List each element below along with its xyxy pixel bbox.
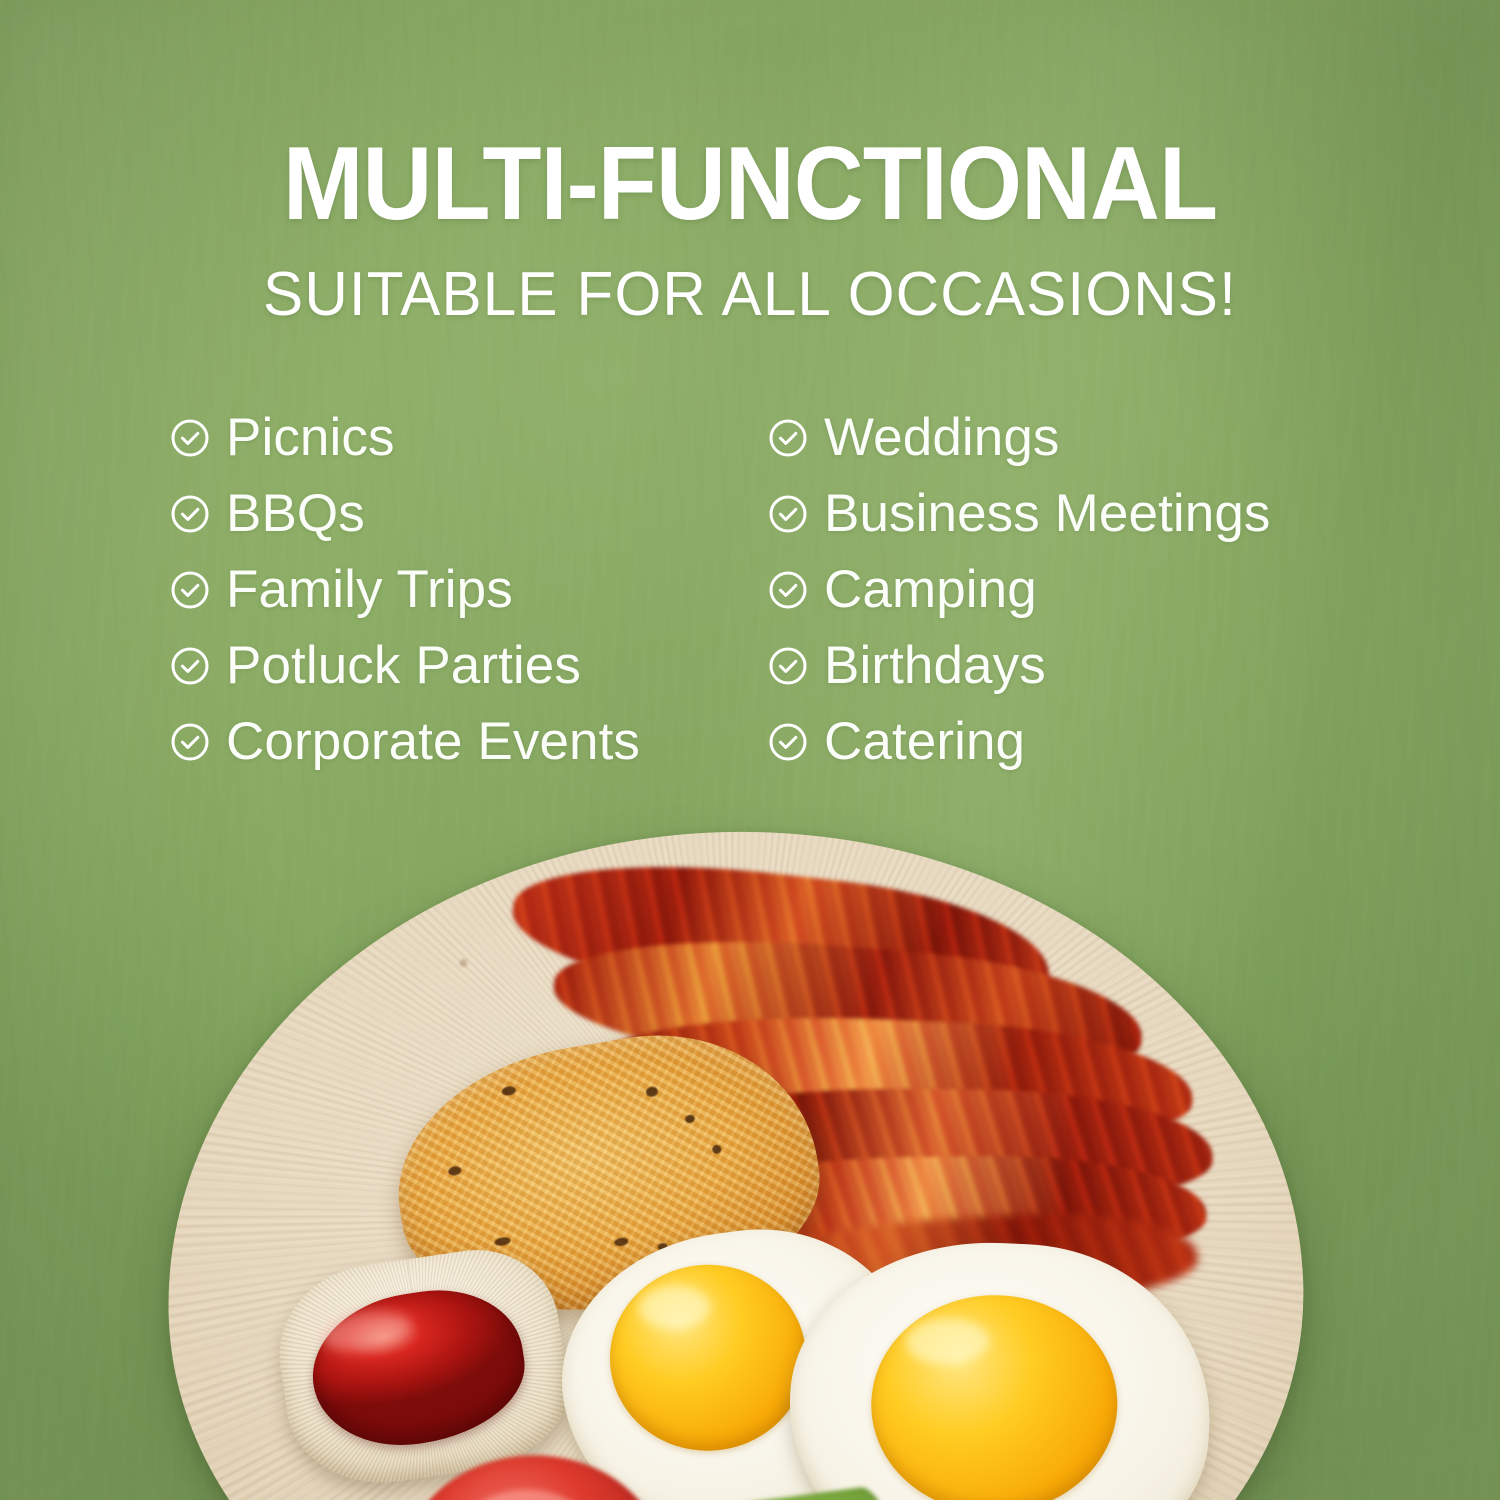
list-item: Birthdays xyxy=(768,628,1271,704)
page-subtitle: SUITABLE FOR ALL OCCASIONS! xyxy=(23,262,1478,328)
list-item-label: Picnics xyxy=(226,410,395,466)
palm-leaf-plate xyxy=(156,817,1314,1500)
circle-check-icon xyxy=(170,570,210,610)
list-item-label: Birthdays xyxy=(824,638,1046,694)
list-item-label: Potluck Parties xyxy=(226,638,581,694)
list-item: Corporate Events xyxy=(170,704,640,780)
circle-check-icon xyxy=(170,418,210,458)
list-item-label: Catering xyxy=(824,714,1025,770)
circle-check-icon xyxy=(768,722,808,762)
circle-check-icon xyxy=(768,570,808,610)
circle-check-icon xyxy=(170,494,210,534)
circle-check-icon xyxy=(768,418,808,458)
occasions-checklist: Picnics BBQs Family Trips Potluck Partie… xyxy=(0,400,1500,800)
circle-check-icon xyxy=(768,494,808,534)
list-item-label: Corporate Events xyxy=(226,714,640,770)
list-item: Potluck Parties xyxy=(170,628,640,704)
list-item-label: Camping xyxy=(824,562,1037,618)
list-item-label: BBQs xyxy=(226,486,365,542)
circle-check-icon xyxy=(170,646,210,686)
page-title: MULTI-FUNCTIONAL xyxy=(53,132,1448,236)
list-item: Business Meetings xyxy=(768,476,1271,552)
circle-check-icon xyxy=(170,722,210,762)
list-item-label: Weddings xyxy=(824,410,1060,466)
list-item: Family Trips xyxy=(170,552,640,628)
checklist-left-column: Picnics BBQs Family Trips Potluck Partie… xyxy=(170,400,640,780)
list-item: BBQs xyxy=(170,476,640,552)
list-item-label: Family Trips xyxy=(226,562,513,618)
palm-leaf-plate-breakfast-photo xyxy=(0,780,1500,1500)
checklist-right-column: Weddings Business Meetings Camping Birth… xyxy=(768,400,1271,780)
list-item: Camping xyxy=(768,552,1271,628)
list-item-label: Business Meetings xyxy=(824,486,1271,542)
product-infographic: MULTI-FUNCTIONAL SUITABLE FOR ALL OCCASI… xyxy=(0,0,1500,1500)
list-item: Picnics xyxy=(170,400,640,476)
list-item: Weddings xyxy=(768,400,1271,476)
circle-check-icon xyxy=(768,646,808,686)
list-item: Catering xyxy=(768,704,1271,780)
